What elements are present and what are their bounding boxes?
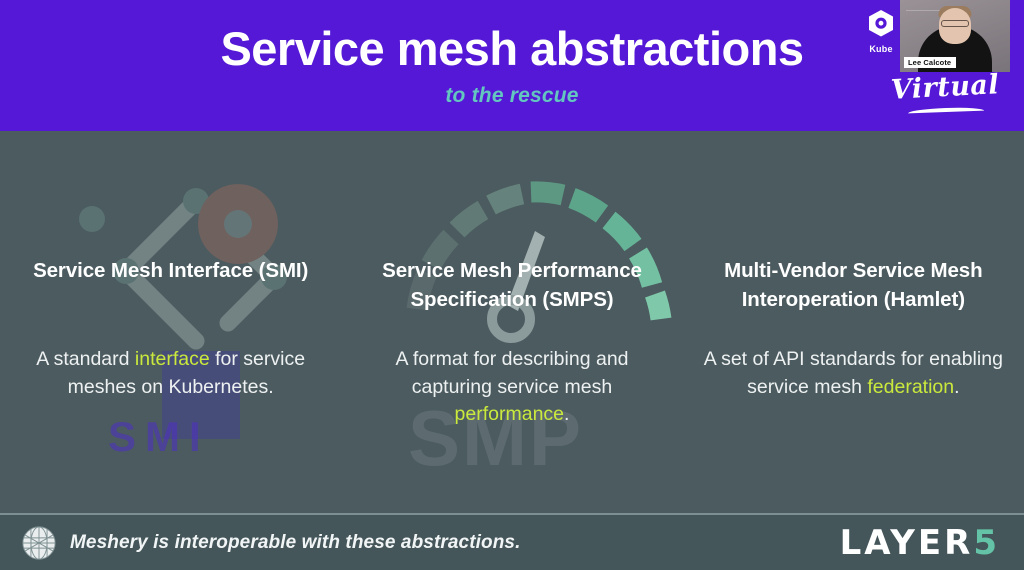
- page-subtitle: to the rescue: [0, 84, 1024, 108]
- column-smps-heading: Service Mesh Performance Specification (…: [359, 256, 664, 314]
- video-overlay[interactable]: Lee Calcote: [900, 0, 1010, 72]
- speaker-glasses: [941, 20, 969, 27]
- layer5-wordmark: LAYER: [840, 523, 974, 563]
- column-hamlet-body-tail: .: [954, 376, 959, 398]
- layer5-logo: LAYER5: [840, 523, 1000, 563]
- slide-body: SMI SMP Service Mesh Interface (SMI): [0, 131, 1024, 513]
- footer-tagline: Meshery is interoperable with these abst…: [70, 532, 520, 554]
- column-hamlet: Multi-Vendor Service Mesh Interoperation…: [683, 131, 1024, 513]
- column-smi-body-lead: A standard: [36, 348, 135, 370]
- column-smps-body: A format for describing and capturing se…: [359, 346, 664, 429]
- column-smps-body-lead: A format for describing and capturing se…: [395, 348, 628, 398]
- column-smi-body: A standard interface for service meshes …: [18, 346, 323, 401]
- column-hamlet-highlight: federation: [867, 376, 954, 398]
- column-hamlet-body: A set of API standards for enabling serv…: [701, 346, 1006, 401]
- column-smps: Service Mesh Performance Specification (…: [341, 131, 682, 513]
- column-smi: Service Mesh Interface (SMI) A standard …: [0, 131, 341, 513]
- presentation-slide: Service mesh abstractions to the rescue …: [0, 0, 1024, 570]
- column-smi-highlight: interface: [135, 348, 210, 370]
- slide-footer: Meshery is interoperable with these abst…: [0, 515, 1024, 570]
- abstraction-columns: Service Mesh Interface (SMI) A standard …: [0, 131, 1024, 513]
- slide-header: Service mesh abstractions to the rescue …: [0, 0, 1024, 131]
- column-smps-body-tail: .: [564, 403, 569, 425]
- column-smps-highlight: performance: [455, 403, 564, 425]
- speaker-name-label: Lee Calcote: [904, 57, 956, 68]
- layer5-digit: 5: [973, 523, 1000, 563]
- meshery-geodesic-sphere-icon: [22, 526, 56, 560]
- column-smi-heading: Service Mesh Interface (SMI): [18, 256, 323, 285]
- kubernetes-helm-wheel-icon: [864, 8, 898, 42]
- column-hamlet-heading: Multi-Vendor Service Mesh Interoperation…: [701, 256, 1006, 314]
